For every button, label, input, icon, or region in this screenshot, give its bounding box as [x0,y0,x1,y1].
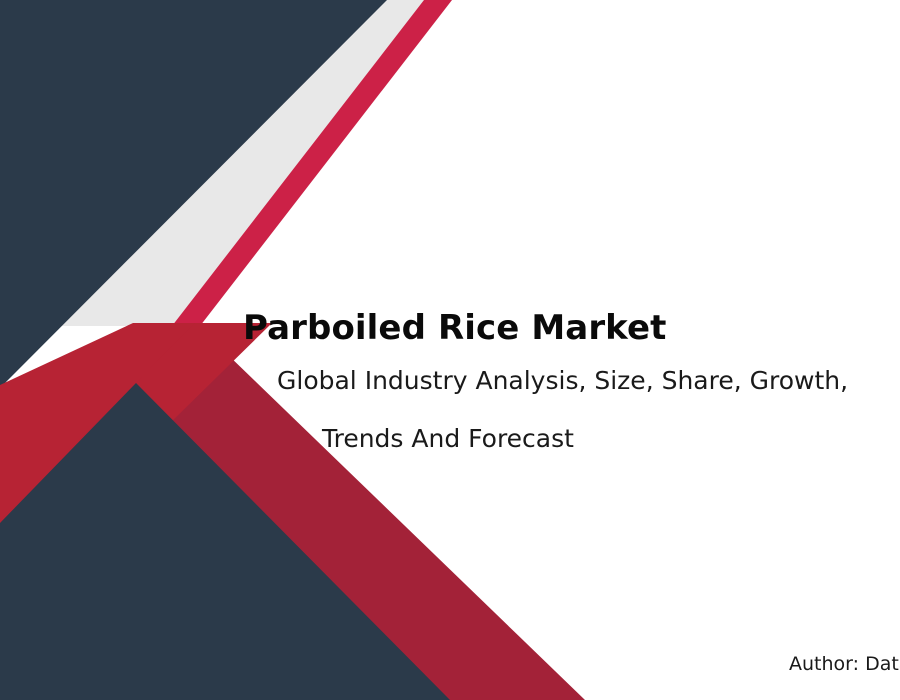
subtitle-line-2: Trends And Forecast [322,425,574,454]
title-slide: Parboiled Rice Market Global Industry An… [0,0,900,700]
author-credit: Author: Data [789,653,900,675]
subtitle-line-1: Global Industry Analysis, Size, Share, G… [277,367,848,396]
page-title: Parboiled Rice Market [243,310,667,347]
slide-text-layer: Parboiled Rice Market Global Industry An… [0,0,900,700]
